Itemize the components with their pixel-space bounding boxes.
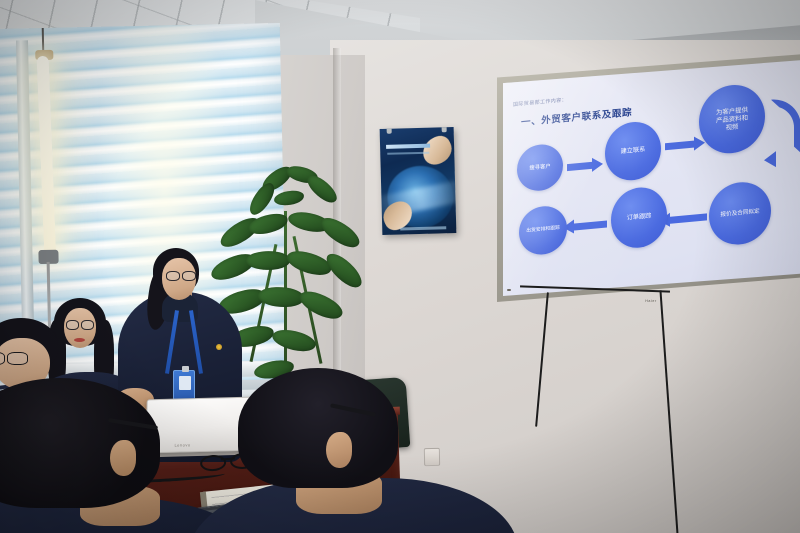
slide-kicker: 国际贸易部工作内容： — [513, 96, 567, 108]
display-power-indicator[interactable] — [507, 289, 511, 291]
attendee-foreground-center — [238, 368, 538, 533]
attendee-ear — [326, 432, 352, 468]
poster-clip-right — [441, 127, 446, 132]
presentation-display[interactable]: 国际贸易部工作内容： 一、外贸客户联系及跟踪 搜寻客户 建立联系 为客户提供 产… — [497, 54, 800, 302]
display-brand-logo: Haier — [645, 299, 657, 303]
attendee-ear — [110, 440, 136, 476]
flow-node-3-line3: 视频 — [726, 123, 739, 132]
eyeglasses-icon — [166, 271, 196, 280]
plant-leaf — [317, 211, 363, 253]
flow-arrow-3 — [669, 213, 707, 223]
flow-node-3: 为客户提供 产品资料和 视频 — [699, 82, 765, 156]
flow-node-5: 订单跟踪 — [611, 185, 667, 250]
uniform-pin — [216, 344, 222, 350]
flow-arrow-4 — [573, 221, 607, 231]
flow-node-4: 报价及合同拟定 — [709, 180, 771, 248]
flow-node-1: 搜寻客户 — [517, 143, 563, 193]
poster-footer-text — [400, 226, 446, 230]
plant-leaf — [274, 190, 305, 206]
poster-hand-upper — [418, 132, 456, 169]
eyeglasses-icon — [0, 352, 28, 364]
flow-arrow-curve — [771, 97, 800, 156]
badge-clip — [182, 366, 189, 372]
display-screen[interactable]: 国际贸易部工作内容： 一、外贸客户联系及跟踪 搜寻客户 建立联系 为客户提供 产… — [503, 60, 800, 296]
slide-content: 国际贸易部工作内容： 一、外贸客户联系及跟踪 搜寻客户 建立联系 为客户提供 产… — [503, 60, 800, 296]
plant-leaf — [270, 325, 318, 357]
flow-arrow-2 — [665, 141, 695, 151]
slide-title: 一、外贸客户联系及跟踪 — [521, 104, 632, 128]
plant-leaf — [247, 212, 290, 237]
attendee-hair — [0, 378, 160, 508]
flow-node-2: 建立联系 — [605, 120, 661, 183]
plant-leaf — [296, 285, 346, 325]
flow-node-6: 出货安排和跟踪 — [519, 204, 567, 256]
attendee-hair — [238, 368, 398, 488]
flow-arrow-1 — [567, 162, 593, 171]
plant-leaf — [304, 170, 341, 207]
meeting-room-photo: 国际贸易部工作内容： 一、外贸客户联系及跟踪 搜寻客户 建立联系 为客户提供 产… — [0, 0, 800, 533]
wall-poster — [380, 127, 457, 235]
poster-clip-left — [387, 127, 392, 134]
